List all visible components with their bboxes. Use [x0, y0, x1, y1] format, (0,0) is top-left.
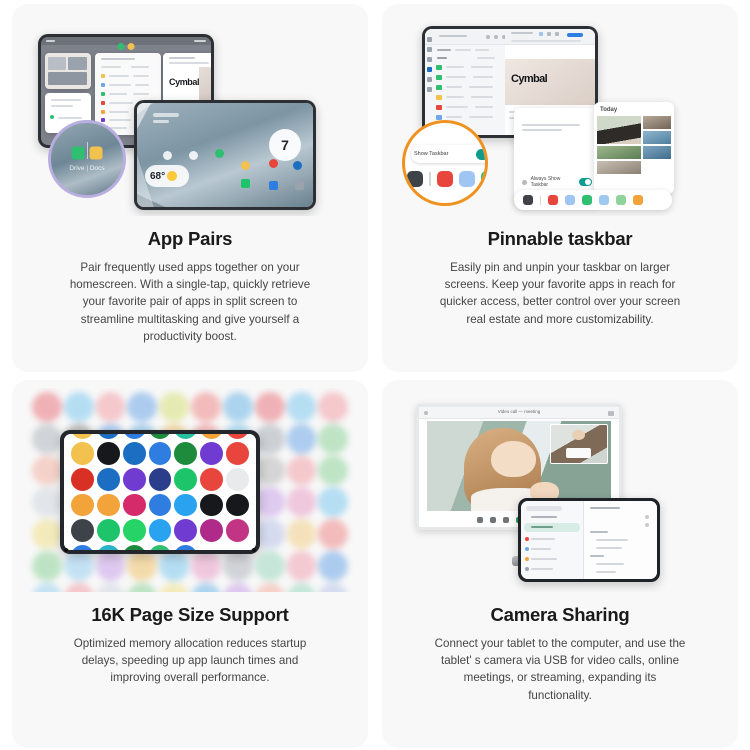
app-icon-blurred [318, 456, 348, 486]
app-icon-blurred [287, 519, 317, 549]
mic-icon[interactable] [477, 517, 483, 523]
app-icon-home-2[interactable] [189, 151, 198, 160]
app-icon-blurred [223, 583, 253, 592]
app-icon-blurred [318, 551, 348, 581]
assistant-icon[interactable] [616, 195, 626, 205]
app-icon-blurred [32, 487, 62, 517]
app-icon[interactable] [71, 494, 94, 517]
app-icon-blurred [255, 551, 285, 581]
app-icon[interactable] [71, 468, 94, 491]
settings-list-pane [521, 501, 584, 579]
app-icon-blurred [191, 392, 221, 422]
photo-thumb[interactable] [597, 161, 641, 174]
app-icon-blurred [287, 583, 317, 592]
app-icon-blurred [223, 392, 253, 422]
app-icon[interactable] [200, 442, 223, 465]
app-icon-blurred [255, 583, 285, 592]
participant-face [491, 441, 535, 477]
always-show-taskbar-label: Always Show Taskbar [531, 176, 576, 188]
app-icon[interactable] [149, 519, 172, 542]
all-apps-icon[interactable] [523, 195, 533, 205]
tablet-settings [518, 498, 660, 582]
divider [429, 172, 431, 186]
app-icon-blurred [32, 519, 62, 549]
docs-hero-banner: Cymbal [505, 59, 595, 105]
app-icon[interactable] [149, 468, 172, 491]
window-photos [45, 53, 91, 89]
card-body-pinnable-taskbar: Easily pin and unpin your taskbar on lar… [434, 259, 686, 328]
meet-icon[interactable] [459, 171, 475, 187]
app-icon[interactable] [174, 545, 197, 550]
app-icon-photos[interactable] [269, 159, 278, 168]
photos-grid [597, 116, 671, 174]
magnifier-taskbar-toggle: Show Taskbar [402, 120, 488, 206]
photos-icon[interactable] [437, 171, 453, 187]
card-body-page-size: Optimized memory allocation reduces star… [64, 635, 316, 687]
app-icon-drive[interactable] [215, 149, 224, 158]
drive-icon[interactable] [481, 171, 489, 187]
app-icon[interactable] [226, 519, 249, 542]
app-icon[interactable] [123, 442, 146, 465]
app-icon[interactable] [174, 519, 197, 542]
app-icon[interactable] [226, 468, 249, 491]
app-icon[interactable] [71, 434, 94, 439]
video-call-title-bar: Video call — meeting [419, 407, 619, 419]
app-icon-blurred [96, 551, 126, 581]
app-icon[interactable] [174, 442, 197, 465]
feature-card-camera-sharing[interactable]: Video call — meeting [382, 380, 738, 748]
illustration-page-size [26, 388, 354, 592]
pinned-taskbar[interactable] [514, 190, 672, 210]
picture-in-picture-feed[interactable] [550, 424, 608, 464]
camera-icon-right [252, 548, 256, 552]
app-icon[interactable] [123, 434, 146, 439]
camera-icon[interactable] [490, 517, 496, 523]
docs-toolbar [505, 29, 595, 45]
show-taskbar-label: Show Taskbar [414, 151, 448, 157]
photo-thumb[interactable] [643, 146, 671, 159]
feature-card-pinnable-taskbar[interactable]: Cymbal Always Show Taskbar [382, 4, 738, 372]
app-icon[interactable] [174, 494, 197, 517]
feature-card-app-pairs[interactable]: Cymbal 7 68° [12, 4, 368, 372]
present-icon[interactable] [503, 517, 509, 523]
app-icon[interactable] [97, 442, 120, 465]
photo-thumb[interactable] [643, 116, 671, 129]
drive-nav-rail[interactable] [425, 37, 433, 135]
all-apps-icon[interactable] [407, 171, 423, 187]
app-pair-label: Drive | Docs [51, 165, 123, 172]
app-icon-blurred [318, 392, 348, 422]
magnified-taskbar-icons [407, 171, 488, 187]
app-icon[interactable] [149, 545, 172, 550]
app-icon-blurred [318, 424, 348, 454]
settings-selected-row[interactable] [524, 523, 580, 532]
app-icon[interactable] [97, 519, 120, 542]
sun-icon [167, 171, 177, 181]
app-icon-meet[interactable] [293, 161, 302, 170]
app-icon-blurred [318, 519, 348, 549]
always-show-taskbar-row[interactable]: Always Show Taskbar [522, 176, 592, 188]
photos-panel-title: Today [600, 107, 617, 113]
app-icon[interactable] [71, 519, 94, 542]
illustration-app-pairs: Cymbal 7 68° [26, 12, 354, 216]
app-icon-blurred [127, 551, 157, 581]
pip-tablet [566, 448, 592, 458]
cymbal-wordmark: Cymbal [511, 73, 547, 85]
docs-icon[interactable] [599, 195, 609, 205]
app-icon[interactable] [123, 519, 146, 542]
app-icon-spotify[interactable] [241, 179, 250, 188]
app-icon[interactable] [200, 434, 223, 439]
app-icon-blurred [287, 424, 317, 454]
app-icon-blurred [32, 456, 62, 486]
clock-widget[interactable]: 7 [269, 129, 301, 161]
app-icon-blurred [287, 487, 317, 517]
app-pair-pill [118, 43, 135, 50]
photo-thumb[interactable] [597, 146, 641, 159]
photo-dog[interactable] [597, 116, 641, 144]
app-icon-blurred [127, 392, 157, 422]
drive-icon[interactable] [582, 195, 592, 205]
app-icon[interactable] [200, 494, 223, 517]
app-icon[interactable] [149, 434, 172, 439]
app-icon-gmail[interactable] [241, 161, 250, 170]
weather-widget[interactable]: 68° [145, 165, 189, 187]
app-icon-blurred [318, 583, 348, 592]
app-icon-blurred [127, 583, 157, 592]
app-pair-icons [72, 147, 103, 160]
app-icon[interactable] [200, 519, 223, 542]
app-icon[interactable] [97, 468, 120, 491]
app-icon[interactable] [174, 434, 197, 439]
cymbal-wordmark: Cymbal [169, 77, 199, 87]
card-body-camera-sharing: Connect your tablet to the computer, and… [434, 635, 686, 704]
card-title-camera-sharing: Camera Sharing [490, 604, 629, 626]
tablet-sharp-icon-grid [60, 430, 260, 554]
card-title-app-pairs: App Pairs [148, 228, 233, 250]
app-icon[interactable] [71, 545, 94, 550]
divider [540, 196, 541, 205]
always-show-taskbar-toggle[interactable] [579, 178, 592, 186]
homescreen-greeting [153, 113, 179, 126]
app-icon[interactable] [97, 434, 120, 439]
app-icon-play[interactable] [295, 181, 304, 190]
sharp-icon-grid [64, 434, 256, 550]
app-icon[interactable] [97, 545, 120, 550]
app-icon-store[interactable] [269, 181, 278, 190]
app-icon[interactable] [149, 442, 172, 465]
app-icon-home-1[interactable] [163, 151, 172, 160]
window-title: Video call — meeting [498, 409, 540, 414]
app-icon[interactable] [200, 468, 223, 491]
card-title-page-size: 16K Page Size Support [91, 604, 288, 626]
photo-thumb[interactable] [643, 131, 671, 144]
app-icon-blurred [318, 487, 348, 517]
app-icon-blurred [96, 583, 126, 592]
app-icon-blurred [64, 583, 94, 592]
app-icon-blurred [32, 551, 62, 581]
tablet-front-homescreen: 7 68° [134, 100, 316, 210]
app-icon-blurred [255, 392, 285, 422]
show-taskbar-control[interactable]: Show Taskbar [411, 145, 488, 163]
app-icon-blurred [287, 456, 317, 486]
drive-toolbar [425, 29, 510, 45]
app-icon-blurred [223, 551, 253, 581]
app-icon[interactable] [226, 434, 249, 439]
photos-icon[interactable] [548, 195, 558, 205]
meet-icon[interactable] [565, 195, 575, 205]
app-icon-blurred [159, 392, 189, 422]
app-icon-blurred [159, 583, 189, 592]
app-icon[interactable] [226, 494, 249, 517]
app-icon[interactable] [226, 442, 249, 465]
app-icon-blurred [287, 551, 317, 581]
photos-panel: Today [594, 102, 674, 194]
feature-card-grid: Cymbal 7 68° [0, 0, 750, 750]
card-body-app-pairs: Pair frequently used apps together on yo… [64, 259, 316, 345]
camera-icon-left [64, 548, 68, 552]
app-icon-blurred [191, 583, 221, 592]
app-icon-blurred [32, 392, 62, 422]
app-icon-blurred [159, 551, 189, 581]
weather-temperature: 68° [150, 171, 165, 182]
app-icon[interactable] [174, 468, 197, 491]
app-icon-blurred [32, 583, 62, 592]
app-icon-blurred [96, 392, 126, 422]
magnifier-app-pair: Drive | Docs [48, 120, 126, 198]
card-title-pinnable-taskbar: Pinnable taskbar [488, 228, 633, 250]
app-icon[interactable] [97, 494, 120, 517]
app-icon[interactable] [71, 442, 94, 465]
app-icon[interactable] [123, 545, 146, 550]
app-icon[interactable] [123, 468, 146, 491]
app-icon[interactable] [149, 494, 172, 517]
illustration-pinnable-taskbar: Cymbal Always Show Taskbar [396, 12, 724, 216]
app-icon-blurred [64, 392, 94, 422]
show-taskbar-toggle[interactable] [476, 149, 488, 160]
app-icon-blurred [64, 551, 94, 581]
illustration-camera-sharing: Video call — meeting [396, 388, 724, 592]
app-icon-blurred [287, 392, 317, 422]
home-icon[interactable] [633, 195, 643, 205]
drive-pane [425, 29, 511, 135]
feature-card-page-size[interactable]: 16K Page Size Support Optimized memory a… [12, 380, 368, 748]
pip-participant-head [572, 430, 584, 441]
app-icon[interactable] [123, 494, 146, 517]
app-icon-blurred [32, 424, 62, 454]
app-icon-blurred [191, 551, 221, 581]
settings-detail-pane [584, 501, 657, 579]
